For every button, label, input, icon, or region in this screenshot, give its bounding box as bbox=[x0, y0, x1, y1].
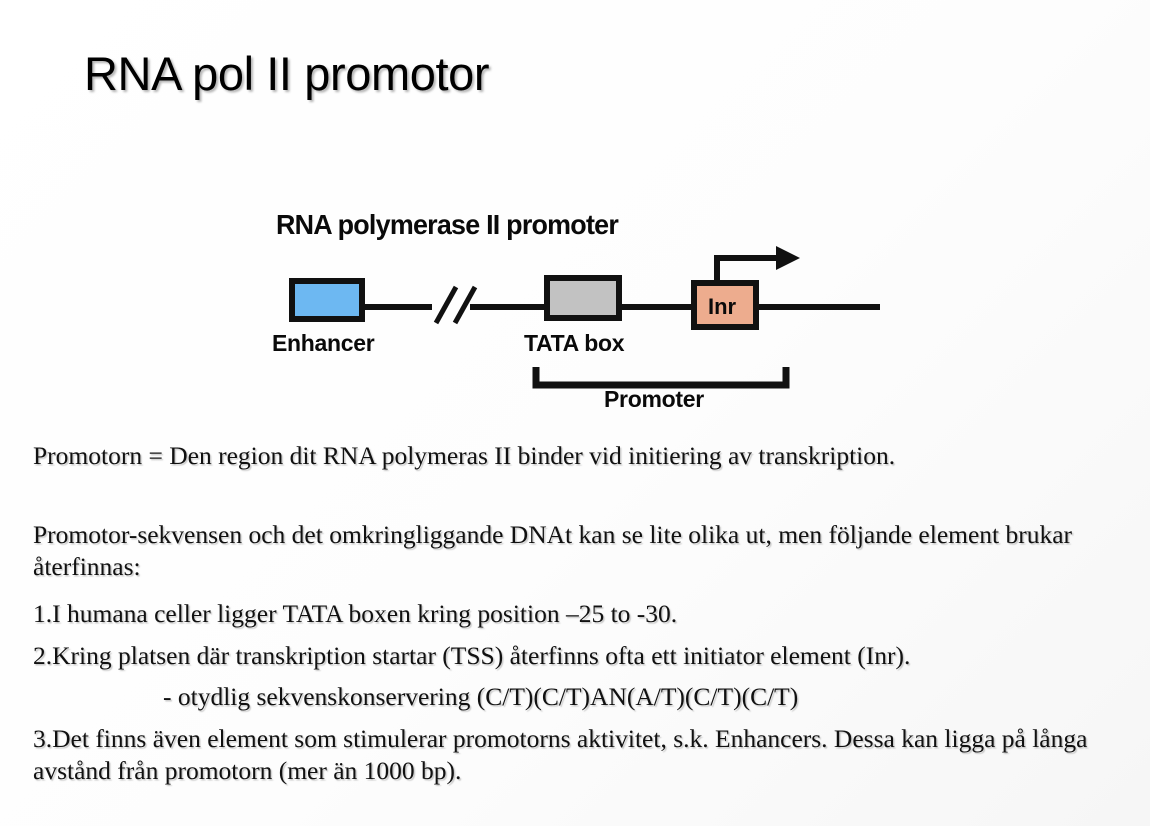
tata-box-label: TATA box bbox=[524, 330, 625, 356]
slide-body: Promotorn = Den region dit RNA polymeras… bbox=[33, 440, 1123, 788]
list-item-3: 3.Det finns även element som stimulerar … bbox=[33, 723, 1123, 788]
tss-arrow-head bbox=[776, 246, 800, 270]
tss-arrow-line bbox=[717, 258, 783, 283]
promoter-bracket bbox=[536, 367, 786, 385]
definition-paragraph: Promotorn = Den region dit RNA polymeras… bbox=[33, 440, 1123, 473]
list-item-1: 1.I humana celler ligger TATA boxen krin… bbox=[33, 598, 1123, 631]
lead-in-paragraph: Promotor-sekvensen och det omkringliggan… bbox=[33, 519, 1123, 584]
promoter-diagram-svg: Enhancer TATA box Inr Promoter bbox=[0, 195, 1150, 425]
enhancer-box bbox=[292, 281, 362, 319]
inr-box-label: Inr bbox=[708, 294, 737, 319]
list-item-2: 2.Kring platsen där transkription starta… bbox=[33, 640, 1123, 673]
promoter-bracket-label: Promoter bbox=[604, 386, 704, 412]
promoter-diagram: RNA polymerase II promoter Enhancer TATA… bbox=[0, 195, 1150, 425]
page-title: RNA pol II promotor bbox=[84, 46, 489, 101]
dna-break-slash-1 bbox=[436, 287, 456, 323]
list-item-2-sub: - otydlig sekvenskonservering (C/T)(C/T)… bbox=[33, 681, 1123, 714]
tata-box bbox=[547, 278, 619, 318]
enhancer-label: Enhancer bbox=[272, 330, 375, 356]
